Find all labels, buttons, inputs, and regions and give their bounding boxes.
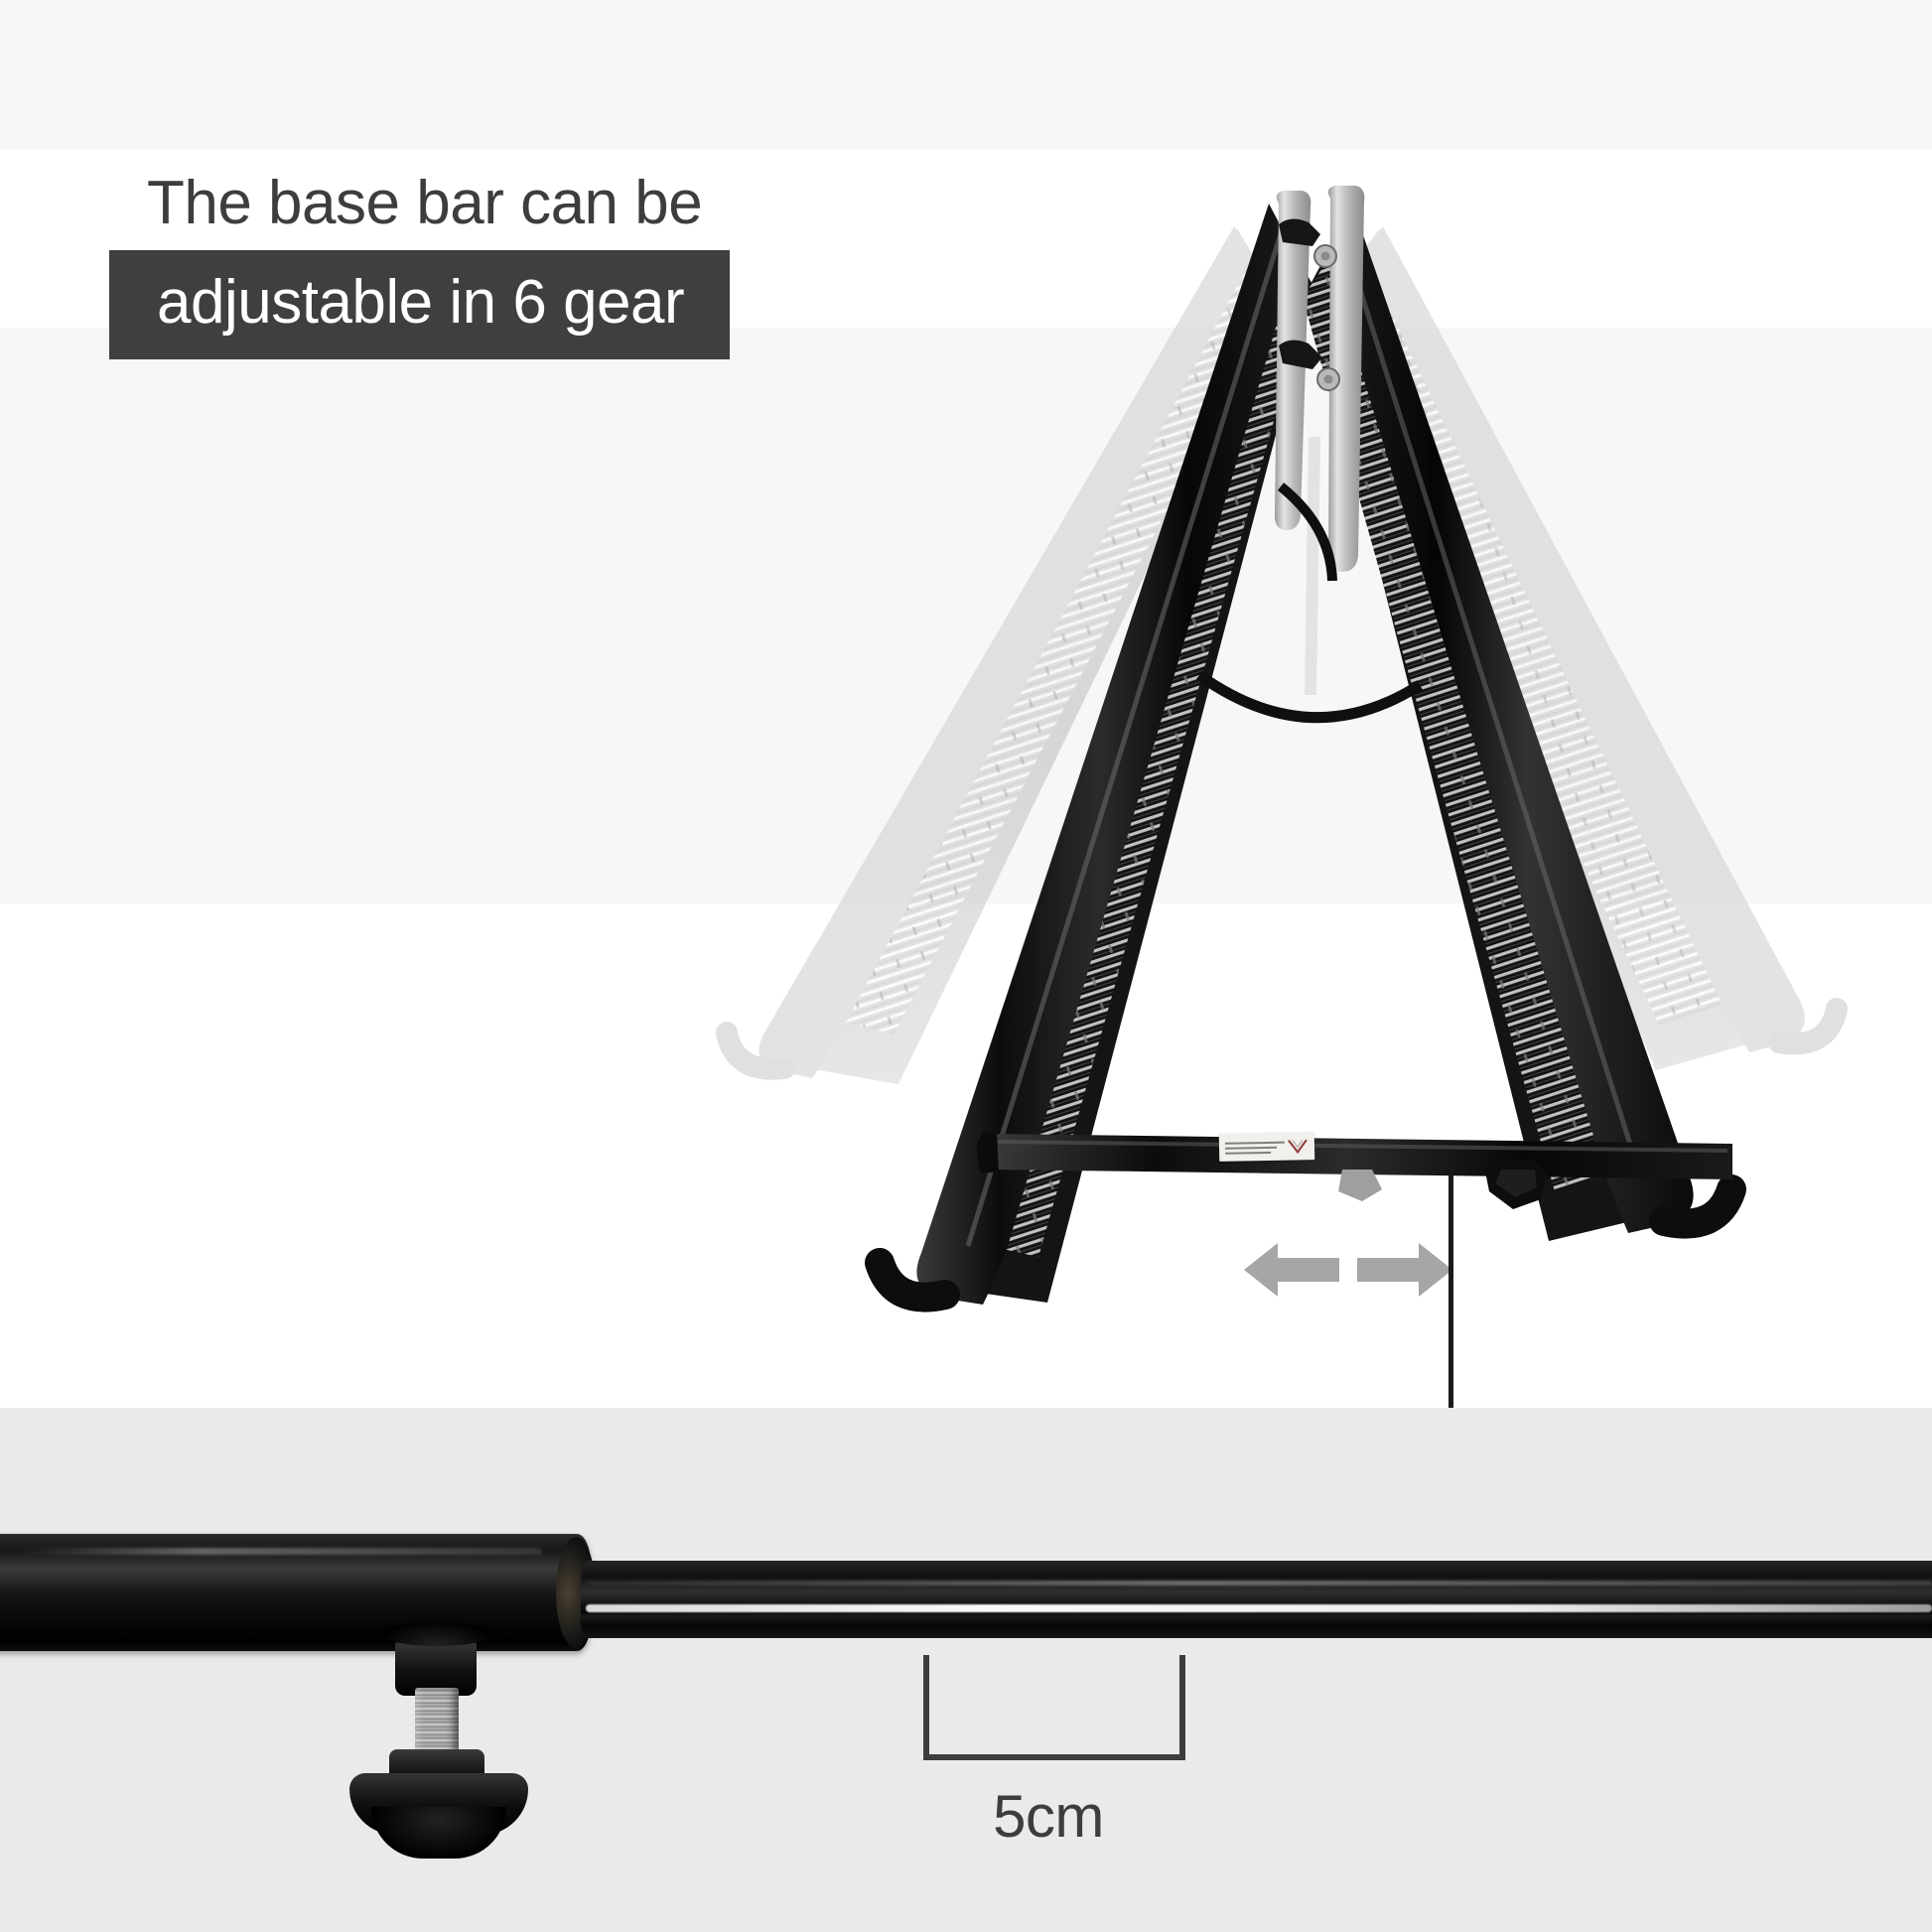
arrow-left-icon (1244, 1239, 1339, 1301)
adjust-knob-right (1485, 1160, 1547, 1209)
sticker-logo-icon (1288, 1138, 1308, 1154)
inner-tube-shadow (581, 1614, 1932, 1630)
measurement-bracket (923, 1655, 1185, 1760)
apex-silver-tubes (1275, 186, 1364, 695)
arrow-right-icon (1357, 1239, 1452, 1301)
page-title-line1: The base bar can be (147, 167, 702, 239)
infographic-canvas: The base bar can be adjustable in 6 gear… (0, 0, 1932, 1932)
hand-knob (349, 1773, 528, 1835)
page-title-highlight: adjustable in 6 gear (109, 250, 730, 359)
measurement-label: 5cm (923, 1782, 1173, 1851)
product-sticker (1219, 1132, 1315, 1162)
inner-tube-highlight (586, 1604, 1932, 1612)
inner-tube-highlight-top (586, 1581, 1932, 1586)
outer-tube (0, 1534, 591, 1651)
slide-direction-arrows (1244, 1239, 1452, 1301)
